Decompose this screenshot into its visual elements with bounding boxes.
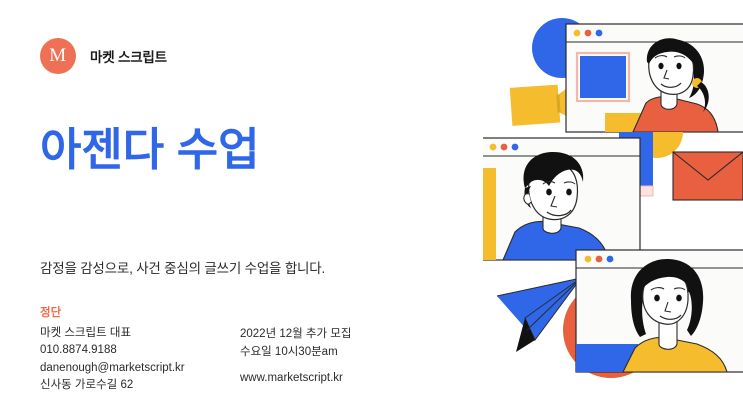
contact-email: danenough@marketscript.kr — [40, 360, 185, 378]
blue-dot — [607, 256, 614, 263]
brand-lockup: M 마켓 스크립트 — [40, 38, 167, 74]
illustration-artwork — [483, 0, 743, 418]
orange-dot — [501, 144, 508, 151]
schedule-recruit: 2022년 12월 추가 모집 — [240, 326, 351, 344]
contact-person-name: 정단 — [40, 305, 185, 323]
schedule-time: 수요일 10시30분am — [240, 344, 351, 362]
page-title: 아젠다 수업 — [40, 125, 260, 175]
eye — [566, 189, 572, 196]
blue-dot — [596, 30, 603, 37]
eye — [676, 63, 681, 69]
yellow-bar-decoration — [483, 168, 496, 260]
video-call-window-man — [483, 138, 640, 260]
eye — [658, 63, 663, 69]
video-call-window-woman-ponytail — [566, 24, 743, 133]
brand-name: 마켓 스크립트 — [90, 46, 167, 66]
website-url: www.marketscript.kr — [240, 372, 343, 384]
eye — [676, 295, 682, 302]
yellow-dot — [574, 30, 581, 37]
envelope-icon — [673, 152, 743, 200]
eye — [546, 189, 552, 196]
contact-address: 신사동 가로수길 62 — [40, 377, 185, 395]
eye — [654, 295, 660, 302]
blue-dot — [512, 144, 519, 151]
contact-role: 마켓 스크립트 대표 — [40, 325, 185, 343]
contact-block: 정단 마켓 스크립트 대표 010.8874.9188 danenough@ma… — [40, 305, 185, 395]
orange-dot — [596, 256, 603, 263]
blue-square-decoration — [580, 56, 626, 98]
yellow-dot — [490, 144, 497, 151]
poster-canvas: M 마켓 스크립트 아젠다 수업 감정을 감성으로, 사건 중심의 글쓰기 수업… — [0, 0, 743, 418]
subtitle: 감정을 감성으로, 사건 중심의 글쓰기 수업을 합니다. — [40, 257, 325, 277]
orange-dot — [585, 30, 592, 37]
yellow-dot — [585, 256, 592, 263]
brand-logo-icon: M — [40, 38, 76, 74]
schedule-block: 2022년 12월 추가 모집 수요일 10시30분am — [240, 326, 351, 361]
contact-phone: 010.8874.9188 — [40, 342, 185, 360]
video-call-window-woman-bob — [576, 250, 743, 372]
